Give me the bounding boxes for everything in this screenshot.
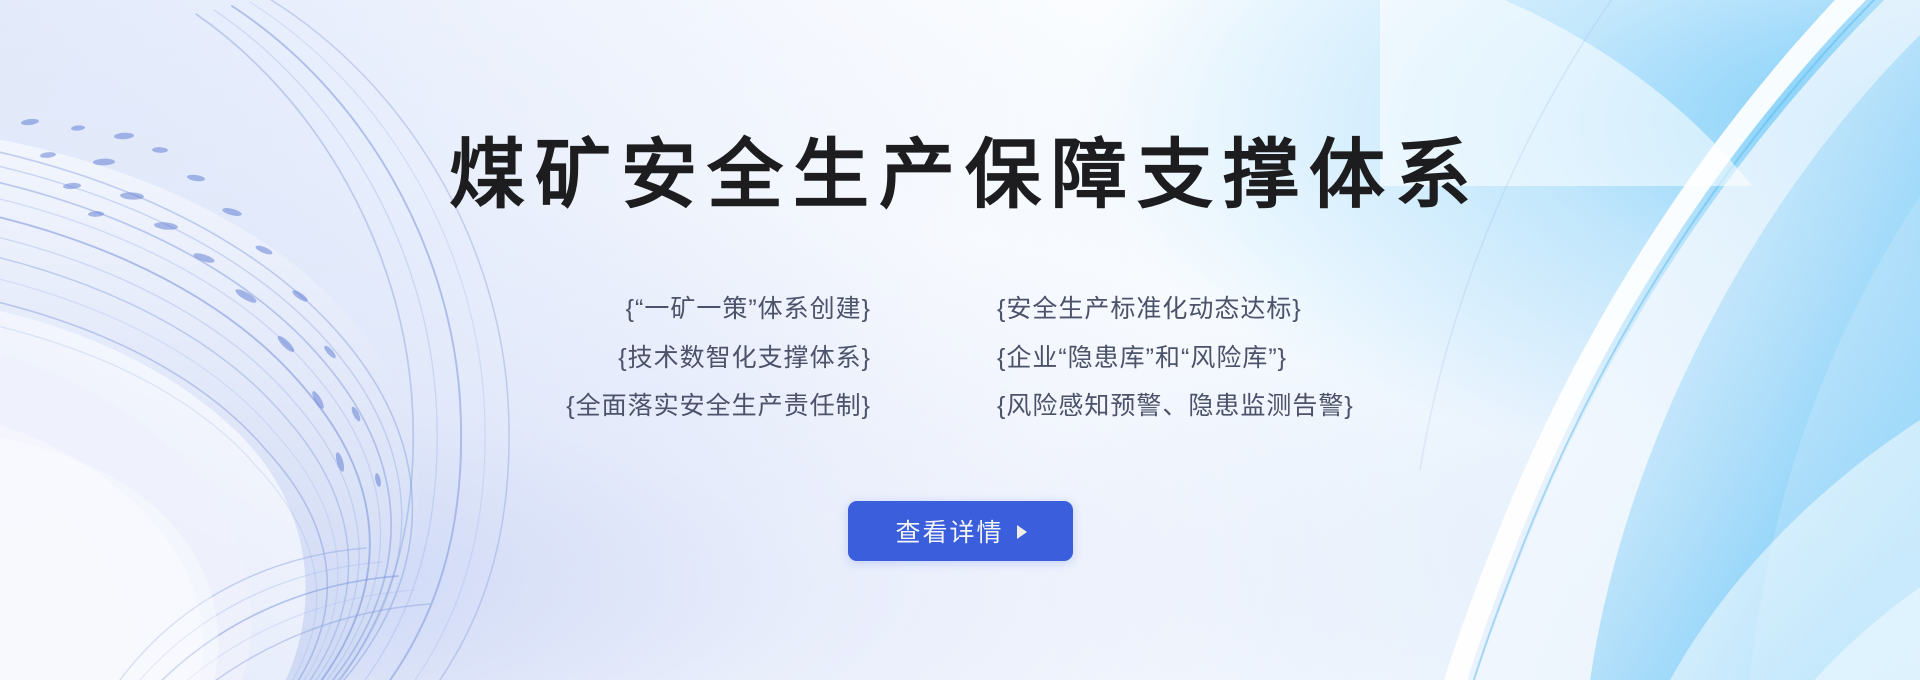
tagline-item: {技术数智化支撑体系} [618,341,871,376]
tagline-item: {全面落实安全生产责任制} [566,389,871,424]
tagline-item: {安全生产标准化动态达标} [997,292,1302,327]
view-details-button[interactable]: 查看详情 [848,501,1073,561]
cta-wrapper: 查看详情 [0,501,1920,561]
tagline-item: {风险感知预警、隐患监测告警} [997,389,1354,424]
tagline-item: {“一矿一策”体系创建} [626,292,871,327]
page-title: 煤矿安全生产保障支撑体系 [0,138,1920,214]
hero-banner: 煤矿安全生产保障支撑体系 {“一矿一策”体系创建} {技术数智化支撑体系} {全… [0,0,1920,680]
tagline-item: {企业“隐患库”和“风险库”} [997,341,1287,376]
tagline-column-left: {“一矿一策”体系创建} {技术数智化支撑体系} {全面落实安全生产责任制} [566,292,871,424]
banner-content: 煤矿安全生产保障支撑体系 {“一矿一策”体系创建} {技术数智化支撑体系} {全… [0,0,1920,680]
tagline-column-right: {安全生产标准化动态达标} {企业“隐患库”和“风险库”} {风险感知预警、隐患… [997,292,1354,424]
tagline-grid: {“一矿一策”体系创建} {技术数智化支撑体系} {全面落实安全生产责任制} {… [0,292,1920,424]
view-details-label: 查看详情 [893,513,1003,549]
play-triangle-right-icon [1017,525,1027,539]
